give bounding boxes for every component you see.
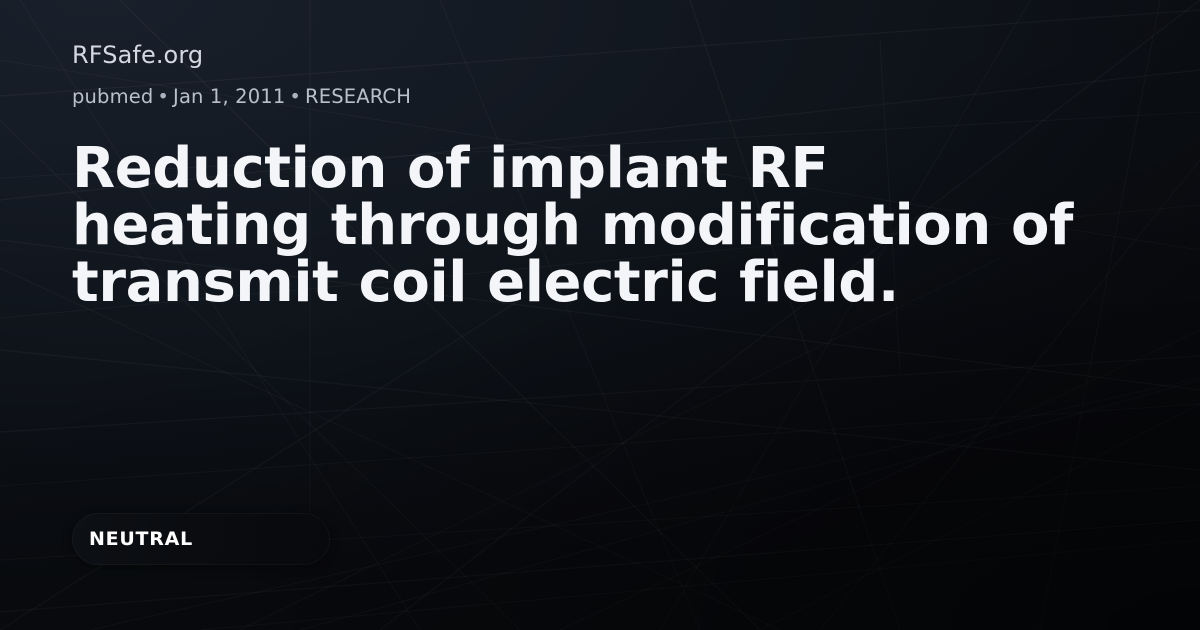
social-share-card: RFSafe.org pubmed•Jan 1, 2011•RESEARCH R… — [0, 0, 1200, 630]
status-badge-label: NEUTRAL — [89, 530, 193, 549]
meta-source: pubmed — [72, 85, 153, 108]
article-meta: pubmed•Jan 1, 2011•RESEARCH — [72, 84, 411, 109]
meta-date: Jan 1, 2011 — [173, 85, 285, 108]
status-badge: NEUTRAL — [72, 513, 330, 565]
card-content: RFSafe.org pubmed•Jan 1, 2011•RESEARCH R… — [0, 0, 1200, 630]
meta-category: RESEARCH — [305, 85, 411, 108]
meta-separator-2: • — [285, 85, 305, 108]
site-name: RFSafe.org — [72, 41, 203, 70]
meta-separator-1: • — [153, 85, 173, 108]
page-title: Reduction of implant RF heating through … — [72, 140, 1082, 311]
